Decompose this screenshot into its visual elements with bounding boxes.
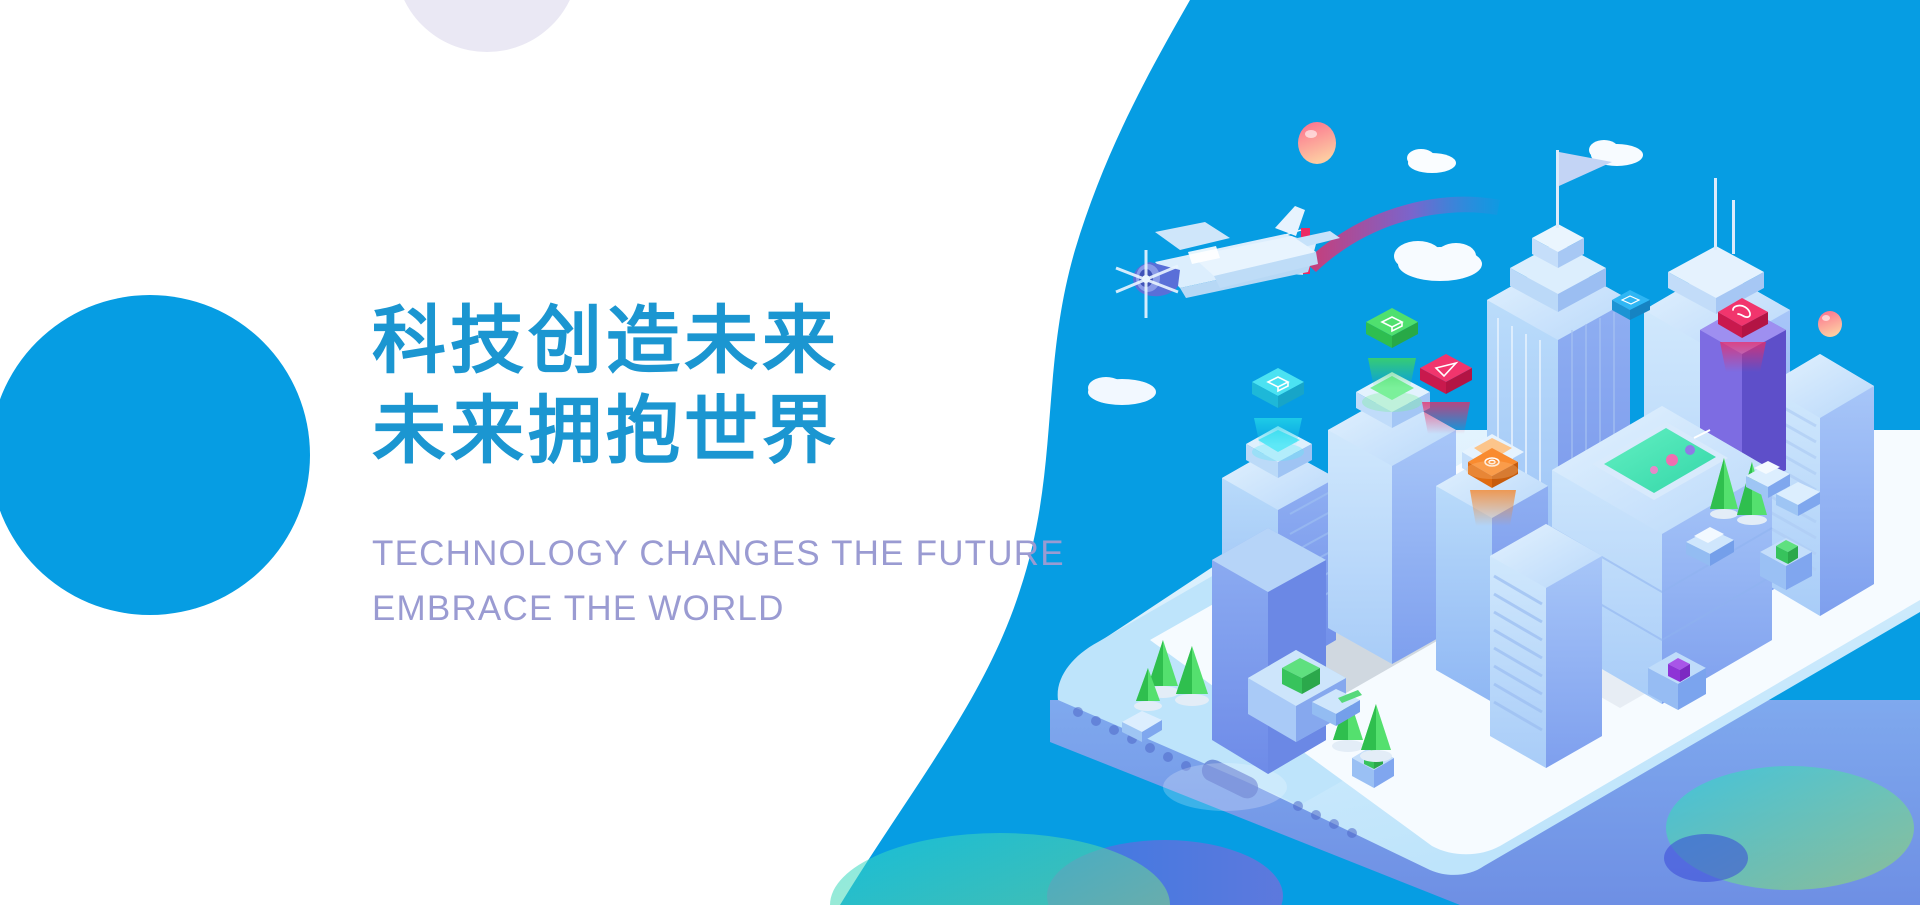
balloon-highlight xyxy=(1822,315,1830,321)
subheadline-line-1: TECHNOLOGY CHANGES THE FUTURE xyxy=(372,526,1052,581)
headline-line-2: 未来拥抱世界 xyxy=(372,386,1052,476)
headline-line-1: 科技创造未来 xyxy=(372,296,1052,386)
building-front-striped xyxy=(1490,524,1602,768)
subheadline-block: TECHNOLOGY CHANGES THE FUTURE EMBRACE TH… xyxy=(372,526,1052,636)
subheadline-line-2: EMBRACE THE WORLD xyxy=(372,581,1052,636)
decor-left-circle xyxy=(0,295,310,615)
antenna xyxy=(1732,200,1735,254)
balloon-highlight xyxy=(1305,130,1317,138)
hero-banner: 科技创造未来 未来拥抱世界 TECHNOLOGY CHANGES THE FUT… xyxy=(0,0,1920,905)
flag-pole xyxy=(1556,150,1559,228)
balloon-small xyxy=(1818,311,1842,337)
balloon-large xyxy=(1298,122,1336,164)
hero-text-block: 科技创造未来 未来拥抱世界 TECHNOLOGY CHANGES THE FUT… xyxy=(372,296,1052,636)
decor-ellipse-blue xyxy=(1664,834,1748,882)
antenna xyxy=(1714,178,1717,250)
